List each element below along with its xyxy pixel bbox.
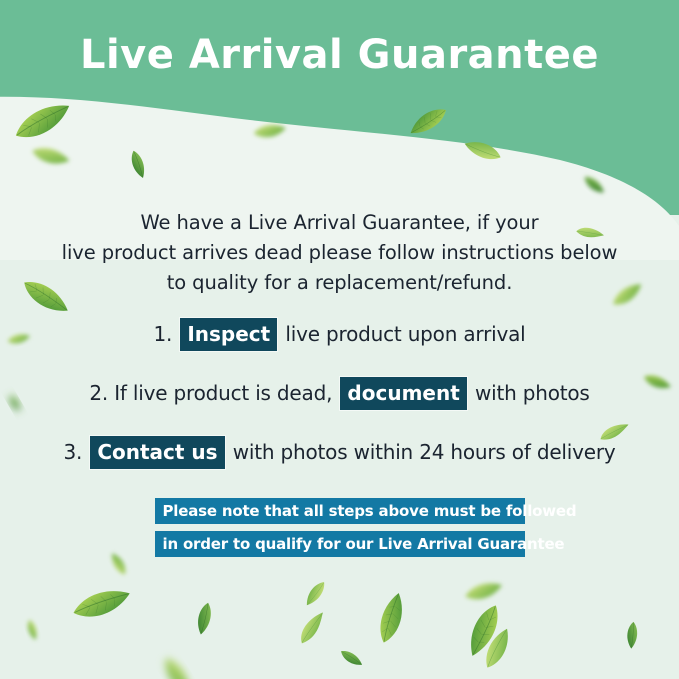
step-text-3: with photos within 24 hours of delivery [233,440,616,464]
intro-line-2: live product arrives dead please follow … [60,238,619,268]
live-arrival-guarantee-poster: Live Arrival Guarantee [0,0,679,679]
step-text-2-after: with photos [475,381,590,405]
step-badge-inspect[interactable]: Inspect [180,318,277,351]
step-number-1: 1. [153,322,172,346]
intro-line-1: We have a Live Arrival Guarantee, if you… [60,208,619,238]
notice-bar-1: Please note that all steps above must be… [155,498,525,524]
step-text-1: live product upon arrival [285,322,525,346]
step-number-3: 3. [63,440,82,464]
step-item-3: 3. Contact us with photos within 24 hour… [40,436,639,469]
notice-block: Please note that all steps above must be… [0,498,679,564]
intro-line-3: to quality for a replacement/refund. [60,268,619,298]
steps-list: 1. Inspect live product upon arrival 2. … [40,318,639,495]
intro-paragraph: We have a Live Arrival Guarantee, if you… [60,208,619,298]
step-number-2: 2. [89,381,108,405]
content-area: We have a Live Arrival Guarantee, if you… [0,0,679,679]
notice-bar-2: in order to qualify for our Live Arrival… [155,531,525,557]
page-title: Live Arrival Guarantee [0,32,679,78]
step-badge-contact-us[interactable]: Contact us [90,436,224,469]
step-badge-document[interactable]: document [340,377,466,410]
step-item-1: 1. Inspect live product upon arrival [40,318,639,351]
step-item-2: 2. If live product is dead, document wit… [40,377,639,410]
step-text-2-before: If live product is dead, [114,381,332,405]
